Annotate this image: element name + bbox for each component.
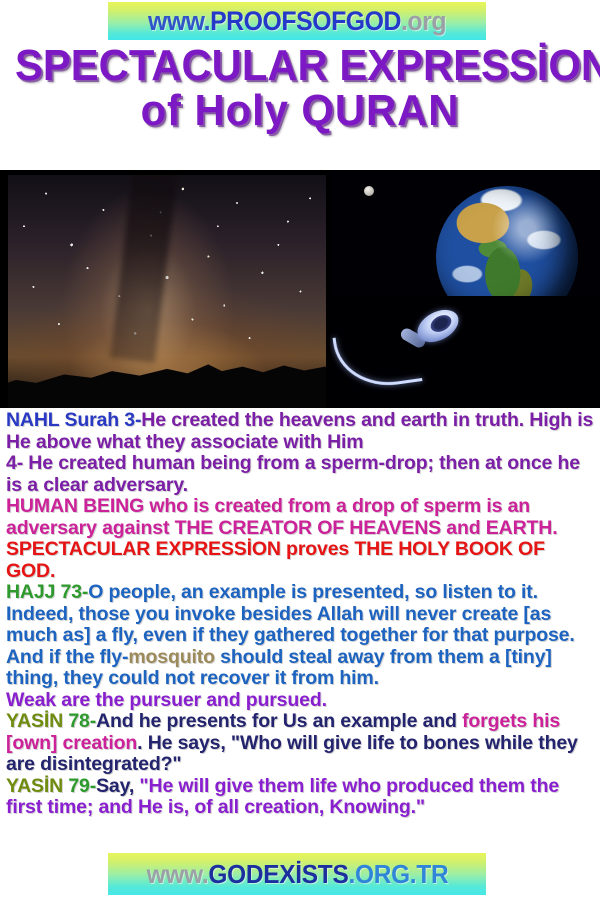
page-title-line-1: SPECTACULAR EXPRESSİONS — [15, 44, 585, 87]
passage-hajj-weak-segment-0: Weak are the pursuer and pursued. — [6, 689, 327, 711]
bottom-banner-text: www.GODEXİSTS.ORG.TR — [146, 859, 448, 890]
passage-yasin-79-segment-0: YASİN — [6, 775, 63, 797]
passage-yasin-78-segment-0: YASİN — [6, 710, 63, 732]
bottom-banner-domain-name: GODEXİSTS — [208, 859, 348, 889]
image-collage — [0, 170, 600, 408]
top-banner-tld-suffix: .org — [401, 6, 446, 36]
passage-nahl-verse-4-segment-0: 4- He created human being from a sperm-d… — [6, 452, 580, 496]
passage-yasin-79: YASİN 79-Say, "He will give them life wh… — [6, 776, 596, 819]
sperm-cell-photo — [330, 296, 600, 408]
passage-human-being-commentary-segment-0: HUMAN BEING who is created from a drop o… — [6, 495, 557, 539]
top-banner-www-prefix: www. — [148, 6, 210, 36]
milky-way-night-sky-photo — [8, 175, 326, 408]
passage-yasin-78: YASİN 78-And he presents for Us an examp… — [6, 711, 596, 776]
passage-spectacular-expression-claim: SPECTACULAR EXPRESSİON proves THE HOLY B… — [6, 539, 596, 582]
passage-yasin-78-segment-1: 78- — [63, 710, 96, 732]
passage-yasin-78-segment-2: And he presents for Us an example and — [96, 710, 462, 732]
bottom-banner-tld-suffix: .ORG.TR — [348, 859, 448, 889]
passage-hajj-weak: Weak are the pursuer and pursued. — [6, 690, 596, 712]
top-banner-domain-name: PROOFSOFGOD — [210, 6, 401, 36]
passage-hajj-73-segment-0: HAJJ 73- — [6, 581, 88, 603]
passage-hajj-73: HAJJ 73-O people, an example is presente… — [6, 582, 596, 690]
bottom-website-banner[interactable]: www.GODEXİSTS.ORG.TR — [108, 853, 486, 895]
passage-nahl-surah: NAHL Surah 3-He created the heavens and … — [6, 410, 596, 453]
bottom-banner-www-prefix: www. — [146, 859, 208, 889]
top-website-banner[interactable]: www.PROOFSOFGOD.org — [108, 2, 486, 40]
quran-passages: NAHL Surah 3-He created the heavens and … — [0, 408, 600, 848]
passage-yasin-79-segment-1: 79- — [63, 775, 96, 797]
page-title-line-2: of Holy QURAN — [15, 89, 585, 132]
passage-human-being-commentary: HUMAN BEING who is created from a drop o… — [6, 496, 596, 539]
page-title: SPECTACULAR EXPRESSİONS of Holy QURAN — [0, 44, 600, 170]
passage-spectacular-expression-claim-segment-0: SPECTACULAR EXPRESSİON proves THE HOLY B… — [6, 538, 545, 582]
passage-nahl-surah-segment-0: NAHL Surah 3- — [6, 409, 141, 431]
moon-icon — [364, 186, 374, 196]
top-banner-text: www.PROOFSOFGOD.org — [148, 6, 446, 37]
passage-yasin-79-segment-2: Say, — [96, 775, 139, 797]
passage-nahl-verse-4: 4- He created human being from a sperm-d… — [6, 453, 596, 496]
passage-hajj-73-segment-2: mosquito — [128, 646, 215, 668]
